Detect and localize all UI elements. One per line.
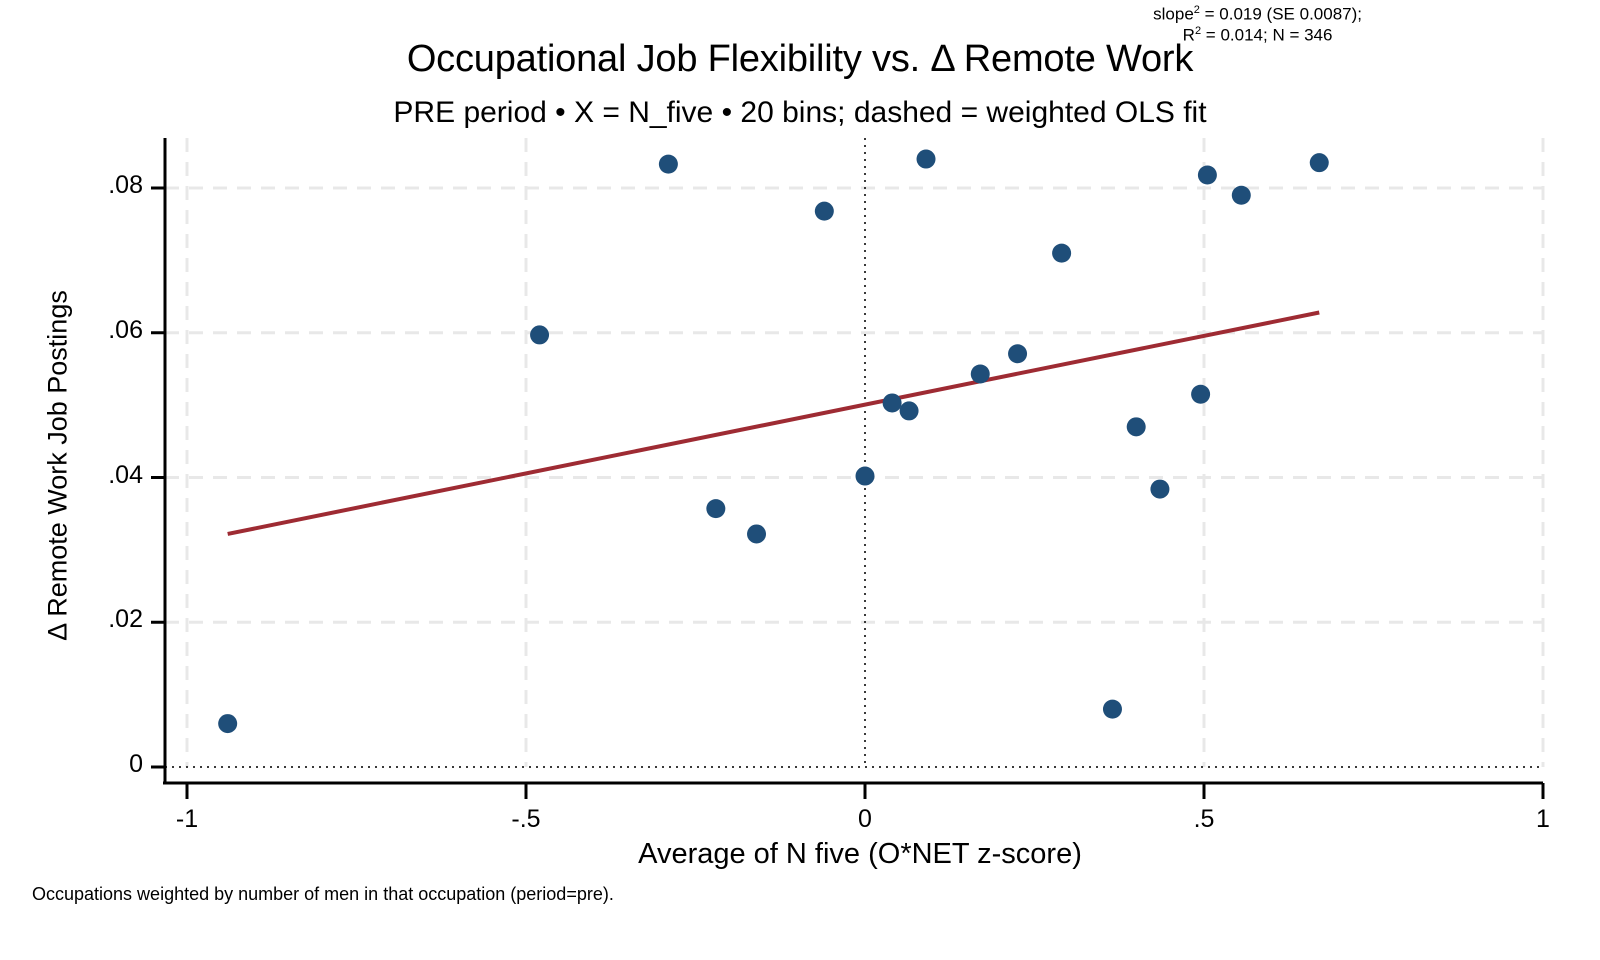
slope-value-text: = 0.019 (SE 0.0087); — [1205, 5, 1362, 24]
x-tick-label: -1 — [142, 805, 232, 834]
slope-subscript: 2 — [1194, 4, 1200, 16]
scatter-point — [1127, 417, 1146, 436]
scatter-point — [659, 155, 678, 174]
x-tick-label: 1 — [1498, 805, 1588, 834]
scatter-point — [1310, 153, 1329, 172]
chart-subtitle: PRE period • X = N_five • 20 bins; dashe… — [0, 96, 1600, 130]
x-axis-title: Average of N five (O*NET z-score) — [170, 838, 1550, 871]
scatter-point — [1052, 244, 1071, 263]
ols-fit-line — [228, 312, 1320, 533]
scatter-point — [971, 365, 990, 384]
scatter-point — [815, 202, 834, 221]
scatter-point — [706, 499, 725, 518]
scatter-point — [747, 524, 766, 543]
scatter-point — [1232, 186, 1251, 205]
y-tick-label: .06 — [73, 316, 143, 345]
y-axis-title: Δ Remote Work Job Postings — [43, 186, 74, 746]
scatter-point — [530, 325, 549, 344]
scatter-point — [900, 401, 919, 420]
scatter-point — [856, 467, 875, 486]
scatter-point — [1150, 480, 1169, 499]
slope-stat-line: slope2 = 0.019 (SE 0.0087); — [1153, 4, 1362, 25]
scatter-point — [218, 714, 237, 733]
scatter-point — [1198, 165, 1217, 184]
scatter-point — [1103, 700, 1122, 719]
y-tick-label: .04 — [73, 461, 143, 490]
scatter-point — [1008, 344, 1027, 363]
x-tick-label: -.5 — [481, 805, 571, 834]
scatter-point — [1191, 385, 1210, 404]
scatter-point — [883, 393, 902, 412]
chart-figure: slope2 = 0.019 (SE 0.0087); R2 = 0.014; … — [0, 0, 1600, 960]
x-tick-label: .5 — [1159, 805, 1249, 834]
y-tick-label: .08 — [73, 171, 143, 200]
y-tick-label: .02 — [73, 605, 143, 634]
plot-area — [0, 0, 1600, 960]
y-tick-label: 0 — [73, 750, 143, 779]
chart-footnote: Occupations weighted by number of men in… — [32, 884, 614, 905]
scatter-point — [917, 150, 936, 169]
slope-label: slope — [1153, 5, 1194, 24]
x-tick-label: 0 — [820, 805, 910, 834]
chart-title: Occupational Job Flexibility vs. Δ Remot… — [0, 38, 1600, 81]
